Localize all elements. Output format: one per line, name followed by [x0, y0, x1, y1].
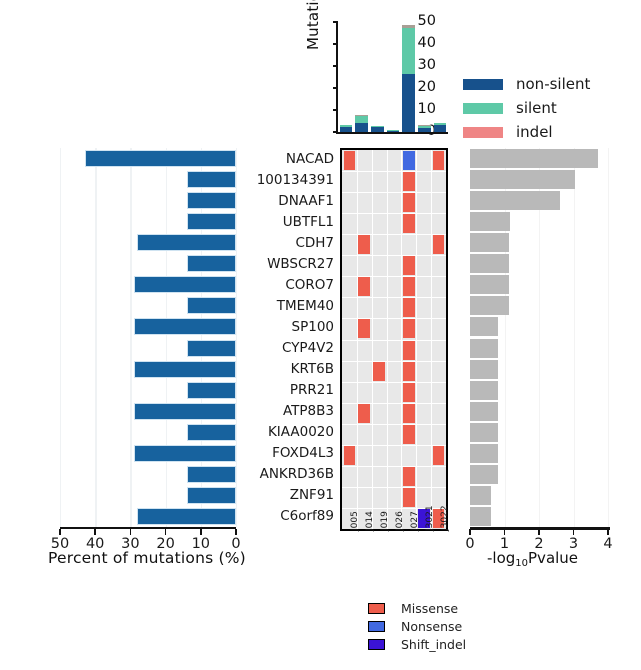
gene-label: SP100: [292, 317, 334, 337]
left-gridline: [60, 148, 61, 527]
sample-label: J3022: [440, 505, 450, 531]
left-x-tick-mark: [235, 529, 237, 535]
left-chart-bar: [137, 508, 236, 525]
mutation-type-legend: MissenseNonsenseShift_indel: [368, 600, 466, 654]
top-y-tick-mark: [333, 65, 338, 67]
sample-id-labels: J005J014J019J026J027J3021J3022: [340, 531, 444, 571]
heatmap-cell-missense: [403, 404, 415, 423]
top-chart-bar-segment-non-silent: [355, 123, 368, 132]
legend-label: silent: [516, 99, 557, 117]
right-chart-bar: [470, 296, 509, 315]
left-chart-bar: [187, 255, 236, 272]
right-chart-x-axis-label: -log10Pvalue: [487, 549, 578, 567]
legend-swatch: [368, 621, 385, 632]
left-chart-bar: [187, 171, 236, 188]
gene-label: C6orf89: [280, 506, 334, 526]
legend-label: non-silent: [516, 75, 590, 93]
sample-label: J014: [365, 511, 375, 531]
mutation-landscape-figure: Mutations/Mb 01020304050 non-silentsilen…: [0, 0, 641, 670]
heatmap-cell-missense: [358, 319, 370, 338]
right-x-tick-mark: [469, 529, 471, 535]
legend-label: Shift_indel: [401, 637, 466, 652]
gene-label: KIAA0020: [268, 422, 334, 442]
heatmap-cell-missense: [433, 235, 445, 254]
top-chart-bar-segment-non-silent: [371, 127, 384, 132]
right-chart-bar: [470, 212, 510, 231]
heatmap-gridline-h: [342, 445, 446, 446]
heatmap-cell-missense: [403, 319, 415, 338]
legend-swatch: [368, 639, 385, 650]
heatmap-cell-missense: [403, 277, 415, 296]
gene-label: PRR21: [290, 380, 334, 400]
right-chart-bar: [470, 465, 498, 484]
heatmap-cell-missense: [403, 341, 415, 360]
right-x-tick-mark: [607, 529, 609, 535]
gene-label: DNAAF1: [278, 191, 334, 211]
left-chart-bar: [134, 403, 236, 420]
gene-label: ATP8B3: [283, 401, 334, 421]
sample-label: J027: [410, 511, 420, 531]
gene-name-column: NACAD100134391DNAAF1UBTFL1CDH7WBSCR27COR…: [236, 148, 336, 527]
heatmap-gridline-h: [342, 340, 446, 341]
right-chart-bar: [470, 339, 498, 358]
heatmap-cell-missense: [403, 383, 415, 402]
heatmap-gridline-h: [342, 171, 446, 172]
legend-label: indel: [516, 123, 553, 141]
gene-label: WBSCR27: [267, 254, 334, 274]
top-chart-bar: [418, 125, 431, 132]
gene-label: ZNF91: [290, 485, 334, 505]
heatmap-cell-missense: [344, 446, 356, 465]
top-y-tick-mark: [333, 131, 338, 133]
sample-label: J3021: [425, 505, 435, 531]
left-x-tick-mark: [130, 529, 132, 535]
legend-row: Missense: [368, 600, 466, 616]
heatmap-cell-missense: [344, 151, 356, 170]
heatmap-gridline-h: [342, 192, 446, 193]
legend-row: Nonsense: [368, 618, 466, 634]
left-chart-bar: [187, 466, 236, 483]
right-chart-bar: [470, 402, 498, 421]
heatmap-cell-missense: [433, 446, 445, 465]
top-y-tick-mark: [333, 87, 338, 89]
legend-swatch: [463, 127, 503, 138]
heatmap-gridline-h: [342, 297, 446, 298]
heatmap-cell-missense: [358, 404, 370, 423]
right-chart-bar: [470, 486, 491, 505]
heatmap-cell-missense: [403, 425, 415, 444]
right-chart-bar: [470, 233, 509, 252]
right-x-tick-mark: [573, 529, 575, 535]
sample-label: J005: [350, 511, 360, 531]
gene-label: FOXD4L3: [272, 443, 334, 463]
left-chart-bar: [187, 487, 236, 504]
left-gridline: [130, 148, 131, 527]
right-xlabel-main: -log: [487, 549, 515, 567]
mutation-class-legend: non-silentsilentindel: [463, 74, 590, 146]
top-chart-bar-segment-non-silent: [387, 131, 400, 132]
left-chart-bar: [187, 297, 236, 314]
legend-label: Nonsense: [401, 619, 462, 634]
gene-label: TMEM40: [277, 296, 334, 316]
percent-mutations-chart: [60, 148, 236, 527]
left-chart-bar: [187, 213, 236, 230]
gene-label: CDH7: [295, 233, 334, 253]
right-x-tick-label: 4: [603, 536, 612, 552]
legend-swatch: [368, 603, 385, 614]
left-chart-bar: [134, 361, 236, 378]
right-chart-bar: [470, 423, 498, 442]
right-xlabel-sub: 10: [515, 558, 528, 569]
legend-row: indel: [463, 122, 590, 142]
right-chart-bar: [470, 149, 598, 168]
heatmap-cell-missense: [403, 298, 415, 317]
heatmap-cell-missense: [403, 256, 415, 275]
top-chart-bar-segment-silent: [355, 116, 368, 123]
top-chart-bar: [355, 115, 368, 132]
legend-swatch: [463, 103, 503, 114]
right-chart-bar: [470, 317, 498, 336]
left-gridline: [95, 148, 96, 527]
top-chart-bar: [387, 130, 400, 132]
right-chart-bar: [470, 381, 498, 400]
legend-swatch: [463, 79, 503, 90]
right-gridline: [574, 148, 575, 527]
left-chart-bar: [134, 276, 236, 293]
top-y-tick-mark: [333, 21, 338, 23]
top-mutation-burden-chart: Mutations/Mb 01020304050: [338, 22, 448, 132]
heatmap-cell-missense: [403, 214, 415, 233]
gene-label: CYP4V2: [282, 338, 334, 358]
right-x-tick-mark: [538, 529, 540, 535]
right-gridline: [608, 148, 609, 527]
top-chart-bar-segment-non-silent: [402, 74, 415, 132]
left-chart-bar: [187, 340, 236, 357]
heatmap-cell-missense: [358, 235, 370, 254]
left-chart-bar: [85, 150, 236, 167]
heatmap-cell-missense: [433, 151, 445, 170]
right-chart-bar: [470, 275, 509, 294]
heatmap-cell-nonsense: [403, 151, 415, 170]
heatmap-cell-missense: [358, 277, 370, 296]
heatmap-gridline-h: [342, 424, 446, 425]
pvalue-chart: [470, 148, 608, 527]
right-chart-bar: [470, 170, 575, 189]
heatmap-cell-missense: [403, 488, 415, 507]
right-chart-bar: [470, 360, 498, 379]
top-chart-bar: [434, 123, 447, 132]
heatmap-gridline-h: [342, 466, 446, 467]
gene-label: NACAD: [286, 149, 334, 169]
right-x-tick-label: 0: [465, 536, 474, 552]
top-chart-bar: [371, 126, 384, 132]
top-chart-bar-segment-silent: [402, 28, 415, 74]
legend-row: silent: [463, 98, 590, 118]
left-x-tick-mark: [94, 529, 96, 535]
top-y-tick-mark: [333, 43, 338, 45]
gene-label: UBTFL1: [283, 212, 334, 232]
top-chart-bar-segment-non-silent: [418, 128, 431, 132]
right-chart-bar: [470, 191, 560, 210]
legend-label: Missense: [401, 601, 458, 616]
heatmap-gridline-h: [342, 382, 446, 383]
left-chart-bar: [187, 424, 236, 441]
right-x-tick-mark: [504, 529, 506, 535]
sample-label: J019: [380, 511, 390, 531]
gene-label: CORO7: [285, 275, 334, 295]
heatmap-cell-missense: [403, 172, 415, 191]
top-chart-bar-segment-non-silent: [340, 127, 353, 132]
mutation-heatmap: [340, 148, 448, 531]
left-gridline: [166, 148, 167, 527]
left-chart-bar: [137, 234, 236, 251]
top-y-tick-mark: [333, 109, 338, 111]
top-chart-bar: [340, 125, 353, 132]
sample-label: J026: [395, 511, 405, 531]
right-xlabel-tail: Pvalue: [528, 549, 578, 567]
heatmap-cell-missense: [403, 193, 415, 212]
right-chart-bar: [470, 444, 498, 463]
heatmap-gridline-h: [342, 255, 446, 256]
left-chart-bar: [134, 318, 236, 335]
gene-label: KRT6B: [291, 359, 334, 379]
top-chart-y-axis-label: Mutations/Mb: [304, 0, 322, 50]
heatmap-cell-missense: [403, 362, 415, 381]
left-chart-bar: [134, 445, 236, 462]
heatmap-gridline-h: [342, 361, 446, 362]
left-chart-bar: [187, 382, 236, 399]
legend-row: non-silent: [463, 74, 590, 94]
left-chart-bar: [187, 192, 236, 209]
gene-label: ANKRD36B: [260, 464, 334, 484]
right-chart-bar: [470, 254, 509, 273]
heatmap-gridline-h: [342, 487, 446, 488]
gene-label: 100134391: [257, 170, 334, 190]
top-chart-bar: [402, 25, 415, 132]
heatmap-cell-missense: [403, 467, 415, 486]
right-chart-bar: [470, 507, 491, 526]
heatmap-gridline-h: [342, 213, 446, 214]
left-x-tick-mark: [200, 529, 202, 535]
left-x-tick-mark: [59, 529, 61, 535]
legend-row: Shift_indel: [368, 636, 466, 652]
heatmap-cell-missense: [373, 362, 385, 381]
top-chart-bar-segment-non-silent: [434, 125, 447, 132]
left-x-tick-mark: [165, 529, 167, 535]
left-chart-x-axis-label: Percent of mutations (%): [48, 549, 246, 567]
